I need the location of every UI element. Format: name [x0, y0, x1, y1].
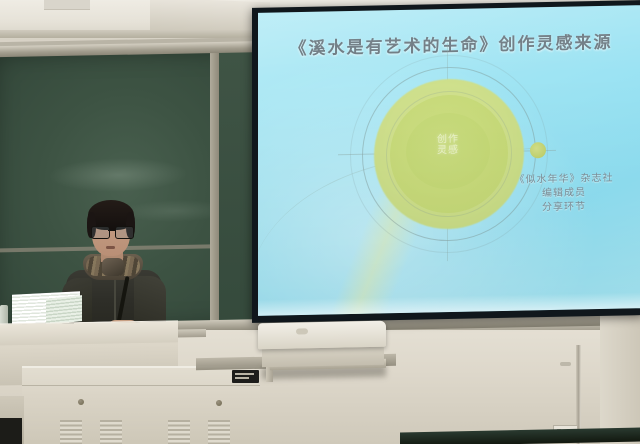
media-control-console[interactable]	[258, 321, 386, 350]
stacked-handouts[interactable]	[12, 293, 80, 325]
console-cap-icon	[296, 328, 308, 334]
water-bottle[interactable]	[0, 305, 8, 325]
cabinet-knob-right[interactable]	[216, 400, 222, 406]
cabinet-vent-4	[208, 420, 230, 444]
cabinet-vent-1	[60, 420, 82, 444]
screen-vignette	[258, 5, 640, 316]
cabinet-seam	[22, 385, 260, 386]
paper-stack-edge	[46, 295, 82, 325]
cabinet-knob-left[interactable]	[78, 399, 84, 405]
cabinet-nameplate	[232, 370, 259, 383]
chalk-smudge	[48, 157, 188, 194]
cabinet-vent-3	[168, 420, 190, 444]
chalkboard-side-panel	[216, 52, 256, 330]
classroom-screenshot: 《溪水是有艺术的生命》创作灵感来源 创作 灵感 《似水年华》杂志社 编辑成员 分…	[0, 0, 640, 444]
ceiling-panel	[44, 0, 90, 10]
presenter-mouth	[106, 246, 115, 249]
cabinet-vent-2	[100, 420, 122, 444]
projection-screen[interactable]: 《溪水是有艺术的生命》创作灵感来源 创作 灵感 《似水年华》杂志社 编辑成员 分…	[258, 5, 640, 316]
eyeglasses-icon	[91, 226, 132, 237]
wall-fixture	[560, 362, 571, 366]
chalkboard-divider	[210, 50, 219, 332]
presenter-scarf	[102, 258, 124, 276]
floor-shadow	[0, 418, 22, 444]
